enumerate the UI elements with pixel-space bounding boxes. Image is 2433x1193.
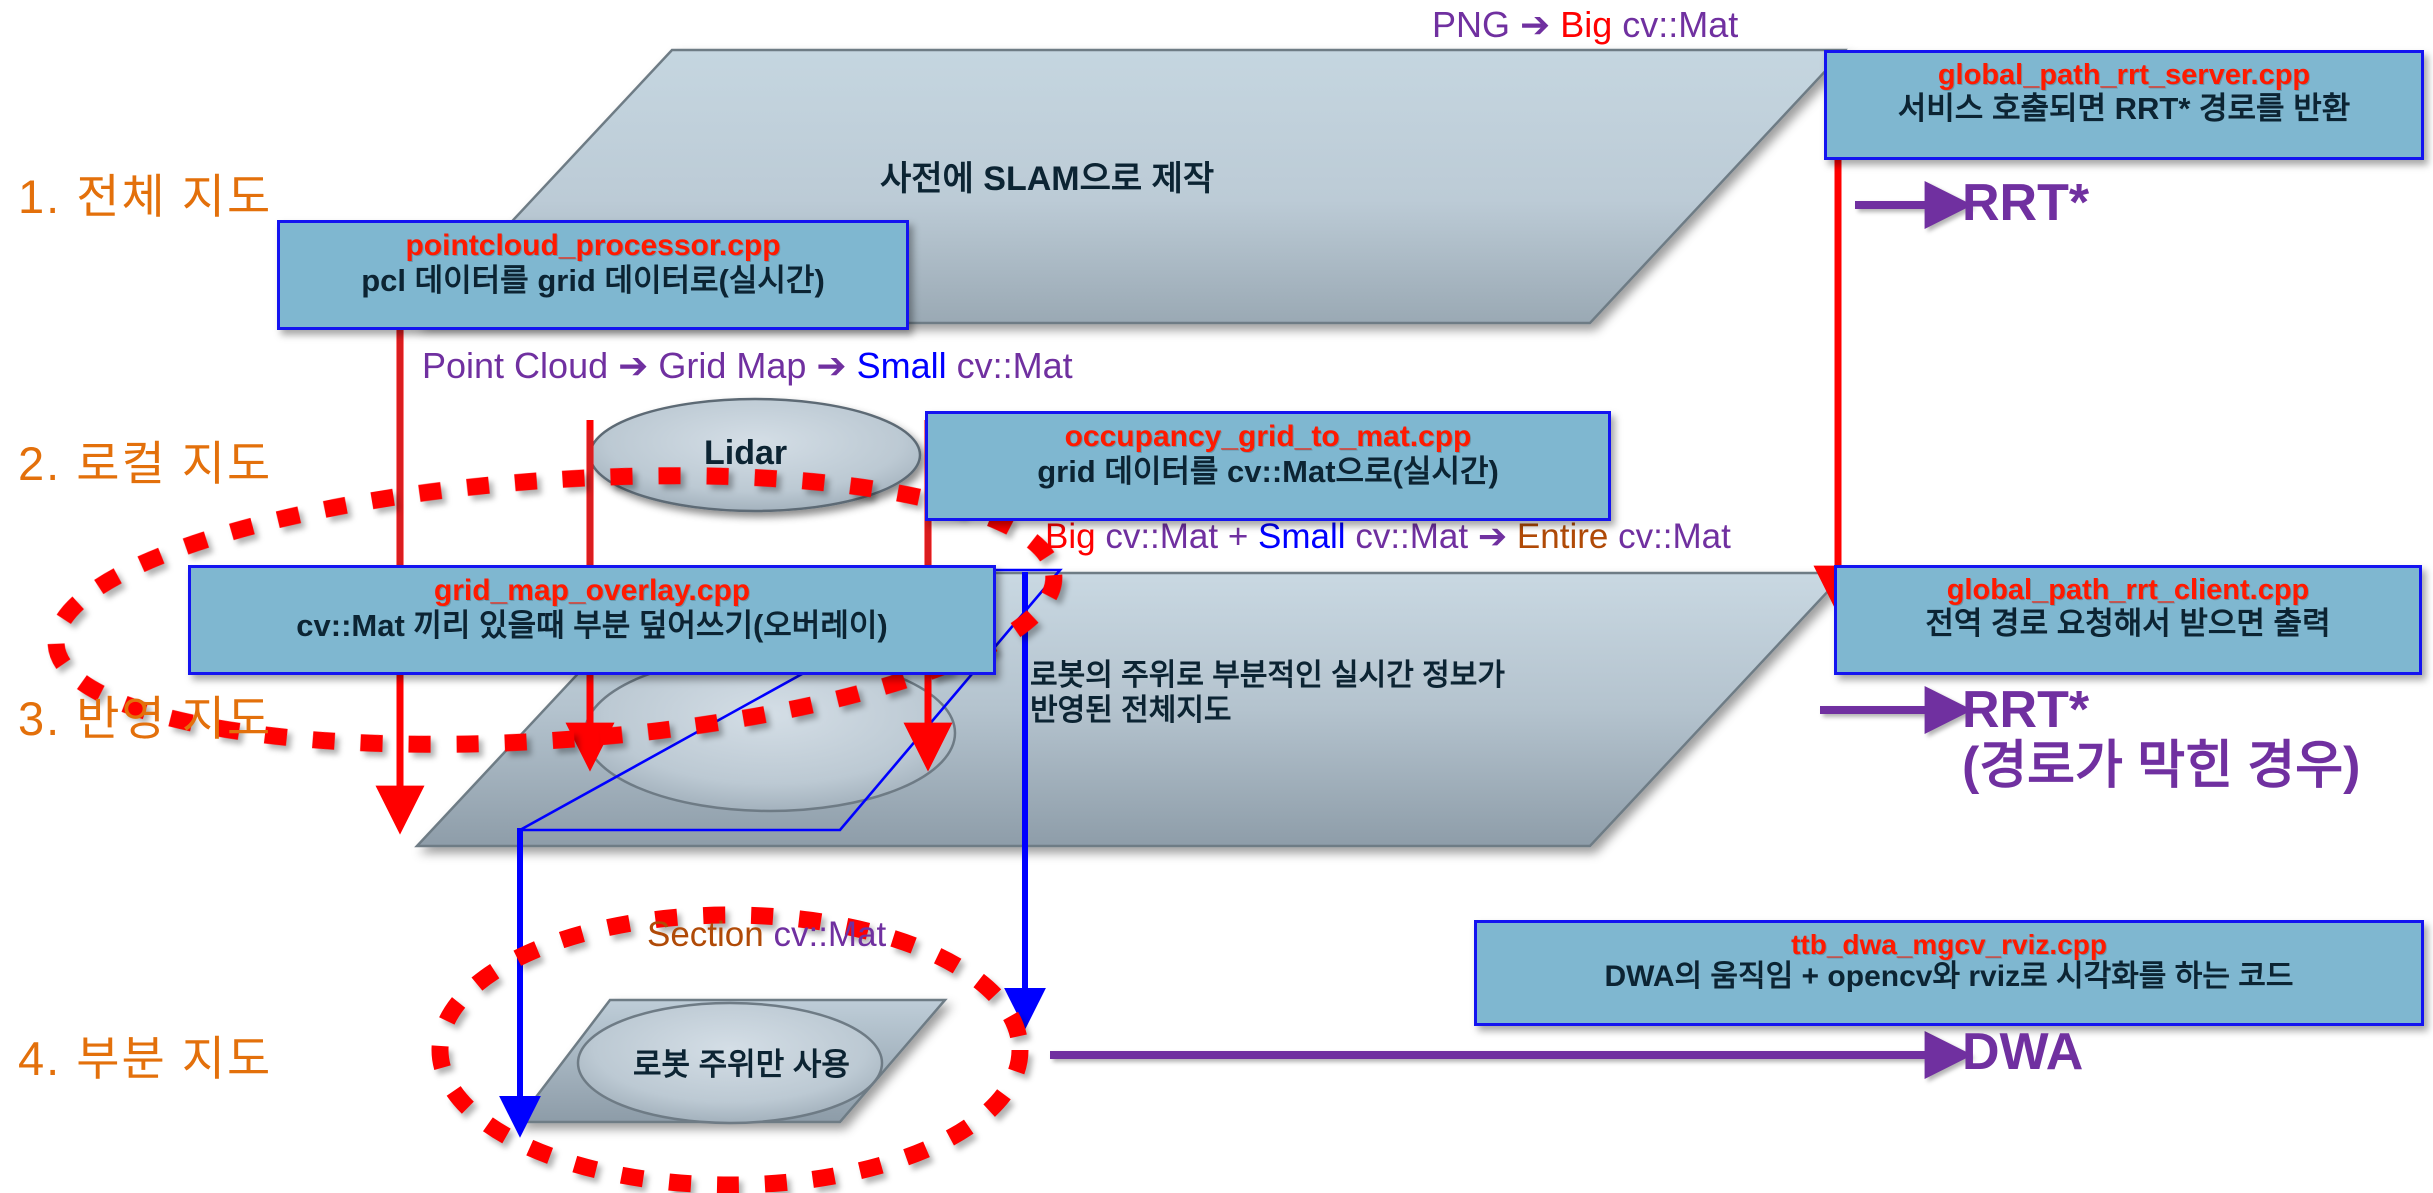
flow-png-mat: cv::Mat <box>1622 4 1738 45</box>
code-box-rrt-client[interactable]: global_path_rrt_client.cpp 전역 경로 요청해서 받으… <box>1834 565 2422 675</box>
code-box-description: pcl 데이터를 grid 데이터로(실시간) <box>280 263 906 298</box>
arrow-glyph: ➔ <box>618 345 648 386</box>
flow-png-big: Big <box>1560 4 1612 45</box>
code-box-filename: occupancy_grid_to_mat.cpp <box>928 420 1608 454</box>
code-box-filename: global_path_rrt_client.cpp <box>1837 574 2419 606</box>
algorithm-label-line2: (경로가 막힌 경우) <box>1962 738 2360 794</box>
section-map-label: 로봇 주위만 사용 <box>633 1039 850 1084</box>
code-box-filename: pointcloud_processor.cpp <box>280 229 906 263</box>
code-box-dwa-rviz[interactable]: ttb_dwa_mgcv_rviz.cpp DWA의 움직임 + opencv와… <box>1474 920 2424 1026</box>
section-label-2: 2. 로컬 지도 <box>18 425 272 494</box>
flow-combine-bigmat: cv::Mat <box>1105 517 1218 556</box>
code-box-filename: grid_map_overlay.cpp <box>191 574 993 608</box>
flow-pc-gridmap: Grid Map <box>658 345 806 386</box>
algorithm-label-line1: RRT* <box>1962 682 2360 738</box>
code-box-description: 서비스 호출되면 RRT* 경로를 반환 <box>1827 91 2421 126</box>
flow-section-label: Section <box>647 915 764 954</box>
flow-section-mat-type: cv::Mat <box>773 915 886 954</box>
code-box-filename: global_path_rrt_server.cpp <box>1827 59 2421 91</box>
diagram-canvas: 1. 전체 지도 2. 로컬 지도 3. 반영 지도 4. 부분 지도 사전에 … <box>0 0 2433 1193</box>
code-box-description: 전역 경로 요청해서 받으면 출력 <box>1837 606 2419 641</box>
code-box-grid-map-overlay[interactable]: grid_map_overlay.cpp cv::Mat 끼리 있을때 부분 덮… <box>188 565 996 675</box>
flow-section-mat: Section cv::Mat <box>647 915 886 955</box>
flow-pc-source: Point Cloud <box>422 345 608 386</box>
arrow-glyph: ➔ <box>1520 4 1550 45</box>
code-box-rrt-server[interactable]: global_path_rrt_server.cpp 서비스 호출되면 RRT*… <box>1824 50 2424 160</box>
flow-combine-mats: Big cv::Mat + Small cv::Mat ➔ Entire cv:… <box>1045 517 1731 557</box>
flow-pointcloud-to-smallmat: Point Cloud ➔ Grid Map ➔ Small cv::Mat <box>422 345 1073 387</box>
arrow-glyph: ➔ <box>816 345 846 386</box>
flow-png-to-bigmat: PNG ➔ Big cv::Mat <box>1432 4 1738 46</box>
section-label-3: 3. 반영 지도 <box>18 680 272 749</box>
algorithm-label-dwa: DWA <box>1962 1024 2083 1080</box>
arrow-glyph: ➔ <box>1478 517 1507 556</box>
flow-combine-plus: + <box>1228 517 1248 556</box>
flow-combine-entiremat: cv::Mat <box>1618 517 1731 556</box>
flow-combine-smallmat: cv::Mat <box>1355 517 1468 556</box>
flow-pc-small: Small <box>857 345 947 386</box>
section-label-4: 4. 부분 지도 <box>18 1020 272 1089</box>
algorithm-label-rrt-star-blocked: RRT* (경로가 막힌 경우) <box>1962 682 2360 794</box>
code-box-filename: ttb_dwa_mgcv_rviz.cpp <box>1477 929 2421 960</box>
global-map-label: 사전에 SLAM으로 제작 <box>880 160 1214 199</box>
overlay-map-label: 로봇의 주위로 부분적인 실시간 정보가 반영된 전체지도 <box>1030 659 1505 729</box>
algorithm-label-rrt-star-top: RRT* <box>1962 175 2089 231</box>
flow-combine-small: Small <box>1258 517 1346 556</box>
code-box-description: cv::Mat 끼리 있을때 부분 덮어쓰기(오버레이) <box>191 608 993 643</box>
code-box-description: grid 데이터를 cv::Mat으로(실시간) <box>928 454 1608 489</box>
code-box-pointcloud-processor[interactable]: pointcloud_processor.cpp pcl 데이터를 grid 데… <box>277 220 909 330</box>
lidar-label: Lidar <box>704 434 787 473</box>
flow-combine-entire: Entire <box>1517 517 1608 556</box>
code-box-occupancy-grid-to-mat[interactable]: occupancy_grid_to_mat.cpp grid 데이터를 cv::… <box>925 411 1611 521</box>
section-label-1: 1. 전체 지도 <box>18 158 272 227</box>
flow-pc-mat: cv::Mat <box>957 345 1073 386</box>
flow-combine-big: Big <box>1045 517 1096 556</box>
code-box-description: DWA의 움직임 + opencv와 rviz로 시각화를 하는 코드 <box>1477 960 2421 994</box>
flow-png-source: PNG <box>1432 4 1510 45</box>
